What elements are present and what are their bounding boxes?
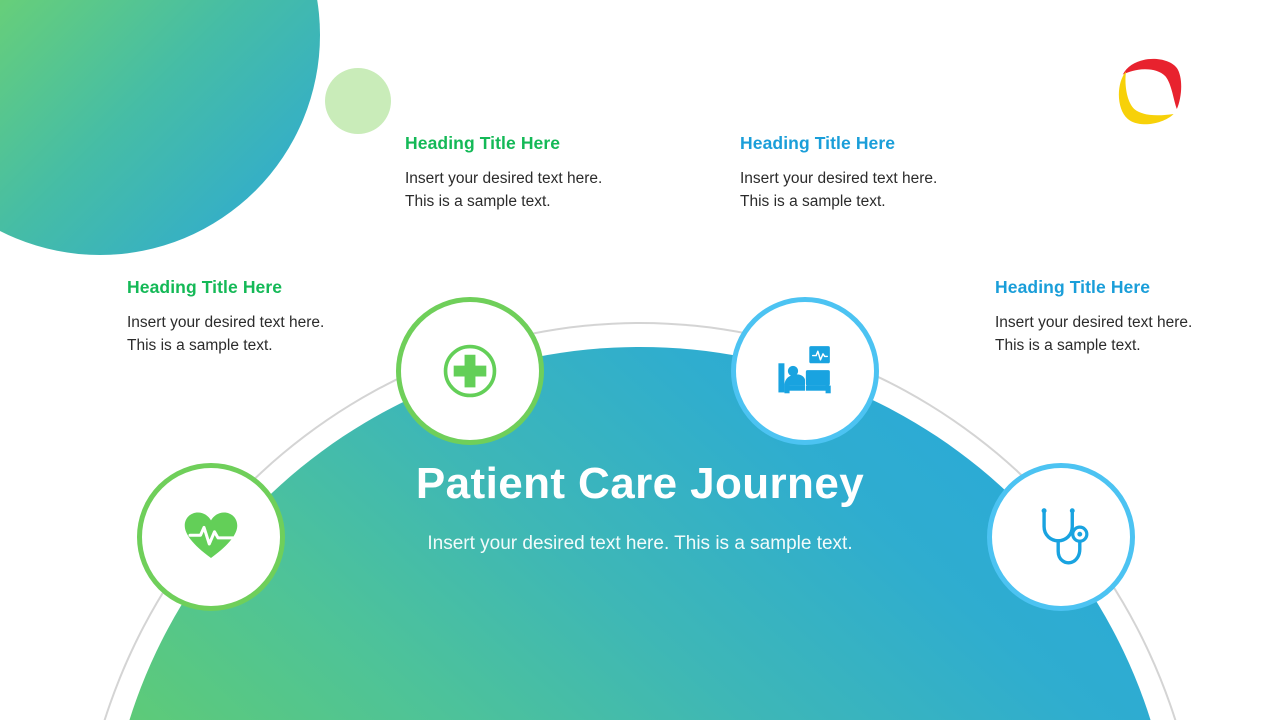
hospital-bed-icon <box>775 344 835 398</box>
callout-left-outer: Heading Title Here Insert your desired t… <box>127 275 342 357</box>
callout-heading: Heading Title Here <box>740 131 955 156</box>
node-heartbeat[interactable] <box>137 463 285 611</box>
center-title-block: Patient Care Journey Insert your desired… <box>340 455 940 558</box>
decorative-green-dot <box>325 68 391 134</box>
page-subtitle: Insert your desired text here. This is a… <box>340 530 940 558</box>
callout-body: Insert your desired text here. This is a… <box>995 312 1210 358</box>
callout-heading: Heading Title Here <box>995 275 1210 300</box>
callout-body: Insert your desired text here. This is a… <box>127 312 342 358</box>
decorative-gradient-blob <box>0 0 320 255</box>
callout-heading: Heading Title Here <box>405 131 620 156</box>
brand-logo-icon <box>1108 50 1190 132</box>
node-medical-cross[interactable] <box>396 297 544 445</box>
node-hospital-bed[interactable] <box>731 297 879 445</box>
callout-body: Insert your desired text here. This is a… <box>405 168 620 214</box>
callout-right-inner: Heading Title Here Insert your desired t… <box>740 131 955 213</box>
callout-body: Insert your desired text here. This is a… <box>740 168 955 214</box>
page-title: Patient Care Journey <box>340 455 940 512</box>
callout-left-inner: Heading Title Here Insert your desired t… <box>405 131 620 213</box>
node-stethoscope[interactable] <box>987 463 1135 611</box>
heartbeat-icon <box>183 509 239 565</box>
stethoscope-icon <box>1032 506 1090 568</box>
callout-heading: Heading Title Here <box>127 275 342 300</box>
slide-canvas: Patient Care Journey Insert your desired… <box>0 0 1280 720</box>
callout-right-outer: Heading Title Here Insert your desired t… <box>995 275 1210 357</box>
medical-cross-icon <box>441 342 499 400</box>
